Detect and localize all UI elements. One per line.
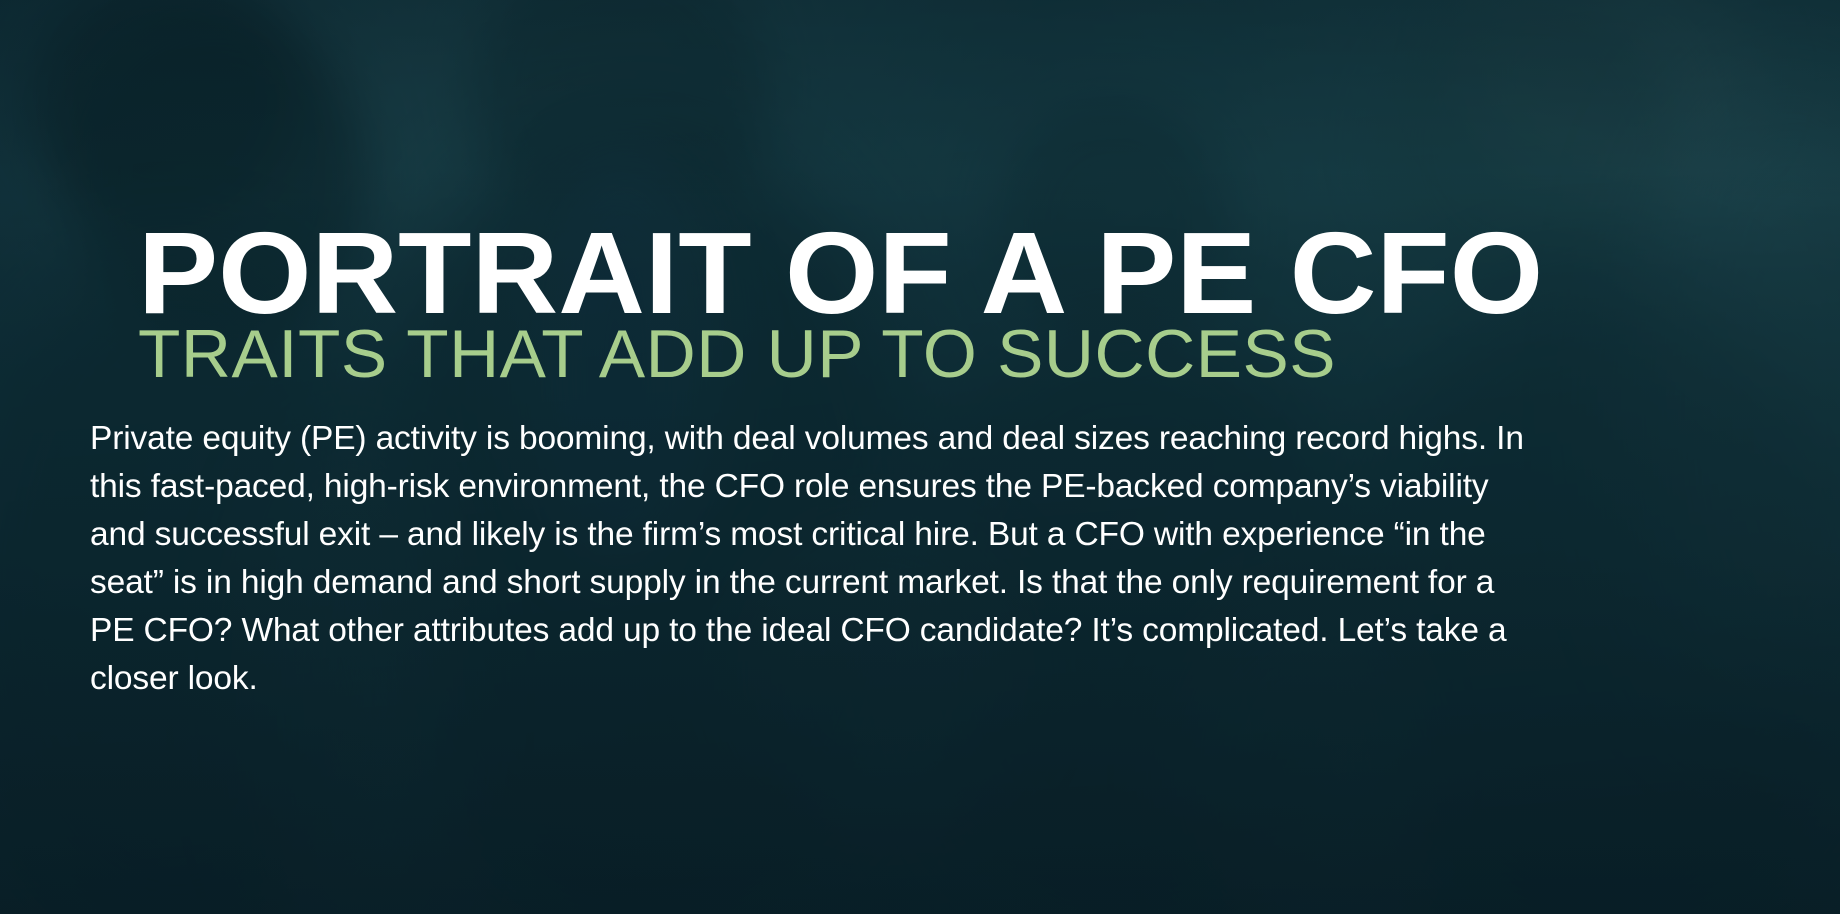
hero-content: PORTRAIT OF A PE CFO TRAITS THAT ADD UP … <box>0 0 1840 914</box>
hero-subheadline: TRAITS THAT ADD UP TO SUCCESS <box>138 320 1336 388</box>
hero-banner: PORTRAIT OF A PE CFO TRAITS THAT ADD UP … <box>0 0 1840 914</box>
hero-body-paragraph: Private equity (PE) activity is booming,… <box>90 415 1545 703</box>
hero-headline: PORTRAIT OF A PE CFO <box>138 215 1543 331</box>
